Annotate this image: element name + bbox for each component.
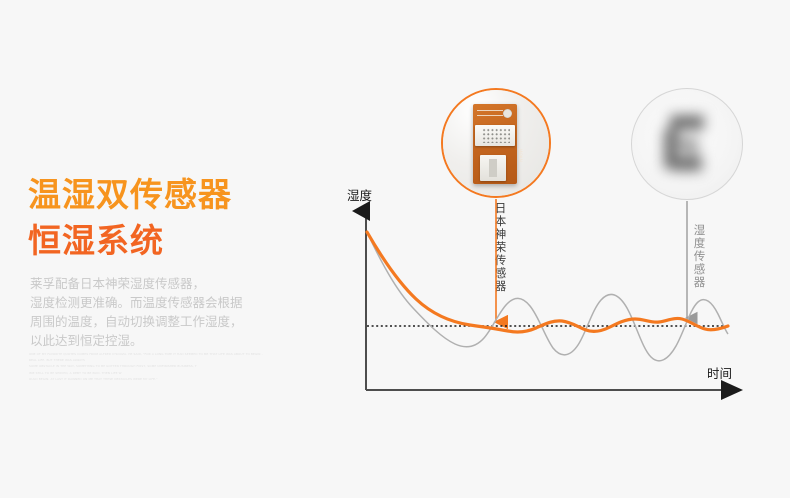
chart-overlay: [0, 0, 790, 498]
promo-banner: 温湿双传感器 恒湿系统 莱孚配备日本神荣湿度传感器， 湿度检测更准确。而温度传感…: [0, 0, 790, 498]
series-standard-sensor-gray: [367, 232, 728, 361]
